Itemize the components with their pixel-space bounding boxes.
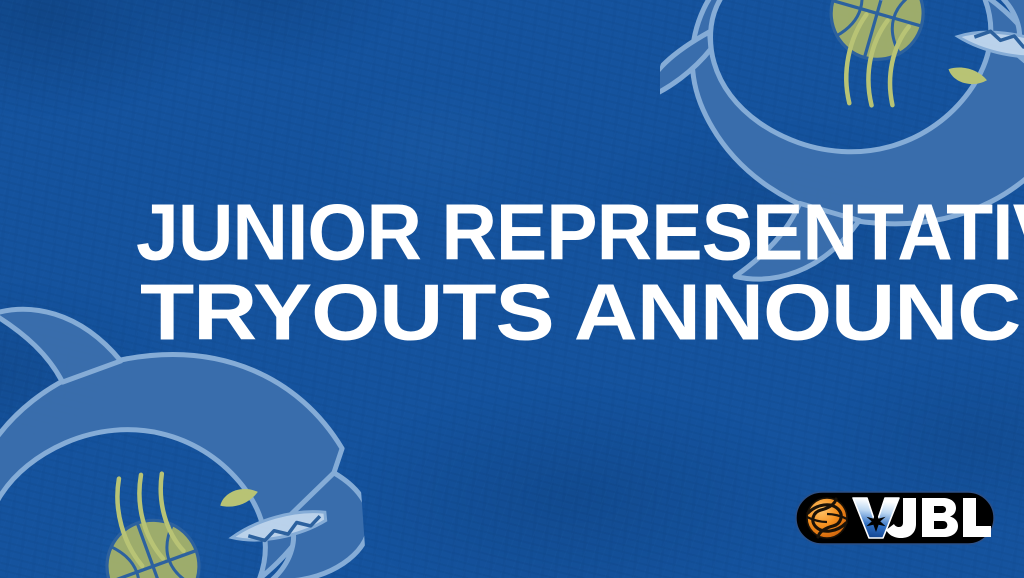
headline-line-2: TRYOUTS ANNOUNCED <box>140 278 1024 347</box>
headline-block: JUNIOR REPRESENTATIVE TRYOUTS ANNOUNCED <box>136 198 926 344</box>
basketball-icon <box>807 498 847 538</box>
promo-banner: JUNIOR REPRESENTATIVE TRYOUTS ANNOUNCED <box>0 0 1024 578</box>
headline-line-1: JUNIOR REPRESENTATIVE <box>136 198 926 267</box>
vjbl-logo[interactable]: VJBL <box>795 491 995 545</box>
